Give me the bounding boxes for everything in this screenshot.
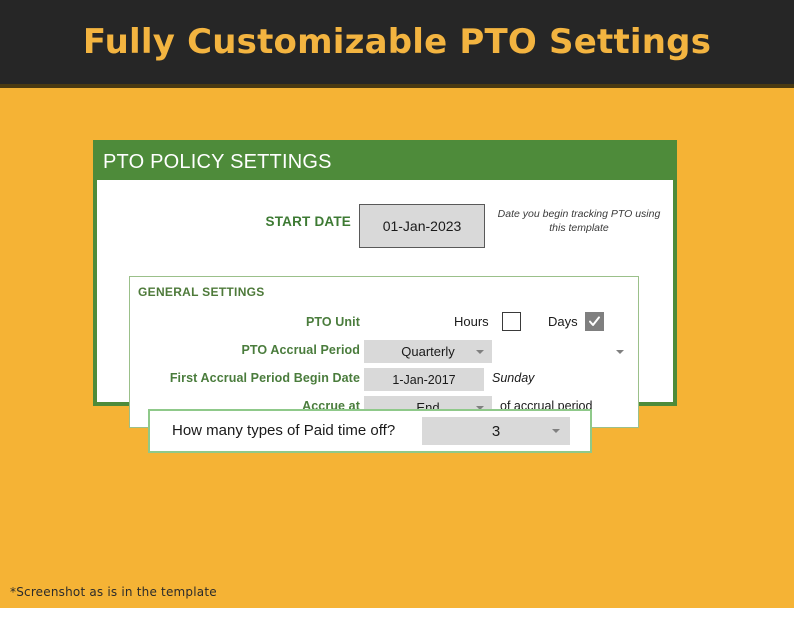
chevron-down-icon [476, 350, 484, 354]
panel-header: PTO POLICY SETTINGS [97, 144, 673, 180]
start-date-label: START DATE [266, 214, 352, 229]
pto-unit-days-label: Days [548, 314, 578, 329]
pto-unit-row: PTO Unit Hours Days [130, 309, 640, 337]
pto-unit-hours-checkbox[interactable] [502, 312, 521, 331]
pto-accrual-period-label: PTO Accrual Period [220, 343, 360, 357]
accrual-period-extra-chevron-down-icon[interactable] [616, 350, 624, 354]
bottom-white-strip [0, 608, 794, 635]
pto-unit-label: PTO Unit [250, 315, 360, 329]
first-accrual-begin-date-input[interactable]: 1-Jan-2017 [364, 368, 484, 391]
check-icon [588, 315, 601, 328]
chevron-down-icon [552, 429, 560, 433]
start-date-note: Date you begin tracking PTO using this t… [493, 207, 665, 235]
page-title: Fully Customizable PTO Settings [83, 22, 711, 62]
pto-types-value: 3 [492, 423, 500, 440]
pto-types-question-label: How many types of Paid time off? [172, 422, 395, 439]
pto-accrual-period-value: Quarterly [401, 344, 454, 359]
pto-unit-hours-label: Hours [454, 314, 489, 329]
start-date-input[interactable]: 01-Jan-2023 [359, 204, 485, 248]
start-date-row: START DATE 01-Jan-2023 Date you begin tr… [97, 204, 673, 248]
pto-settings-page: Fully Customizable PTO Settings PTO POLI… [0, 0, 794, 635]
panel-body: START DATE 01-Jan-2023 Date you begin tr… [97, 180, 673, 402]
pto-types-question-box: How many types of Paid time off? 3 [148, 409, 592, 453]
pto-types-dropdown[interactable]: 3 [422, 417, 570, 445]
panel-header-title: PTO POLICY SETTINGS [103, 151, 332, 174]
pto-policy-settings-panel: PTO POLICY SETTINGS START DATE 01-Jan-20… [93, 140, 677, 406]
footer-note: *Screenshot as is in the template [10, 585, 217, 599]
first-accrual-begin-date-weekday: Sunday [492, 371, 534, 385]
page-banner: Fully Customizable PTO Settings [0, 0, 794, 84]
first-accrual-begin-date-label: First Accrual Period Begin Date [136, 371, 360, 385]
pto-accrual-period-dropdown[interactable]: Quarterly [364, 340, 492, 363]
general-settings-title: GENERAL SETTINGS [138, 285, 265, 299]
pto-accrual-period-row: PTO Accrual Period Quarterly [130, 337, 640, 365]
pto-unit-days-checkbox[interactable] [585, 312, 604, 331]
general-settings-box: GENERAL SETTINGS PTO Unit Hours Days PT [129, 276, 639, 428]
first-accrual-begin-date-row: First Accrual Period Begin Date 1-Jan-20… [130, 365, 640, 393]
banner-underline [0, 84, 794, 88]
